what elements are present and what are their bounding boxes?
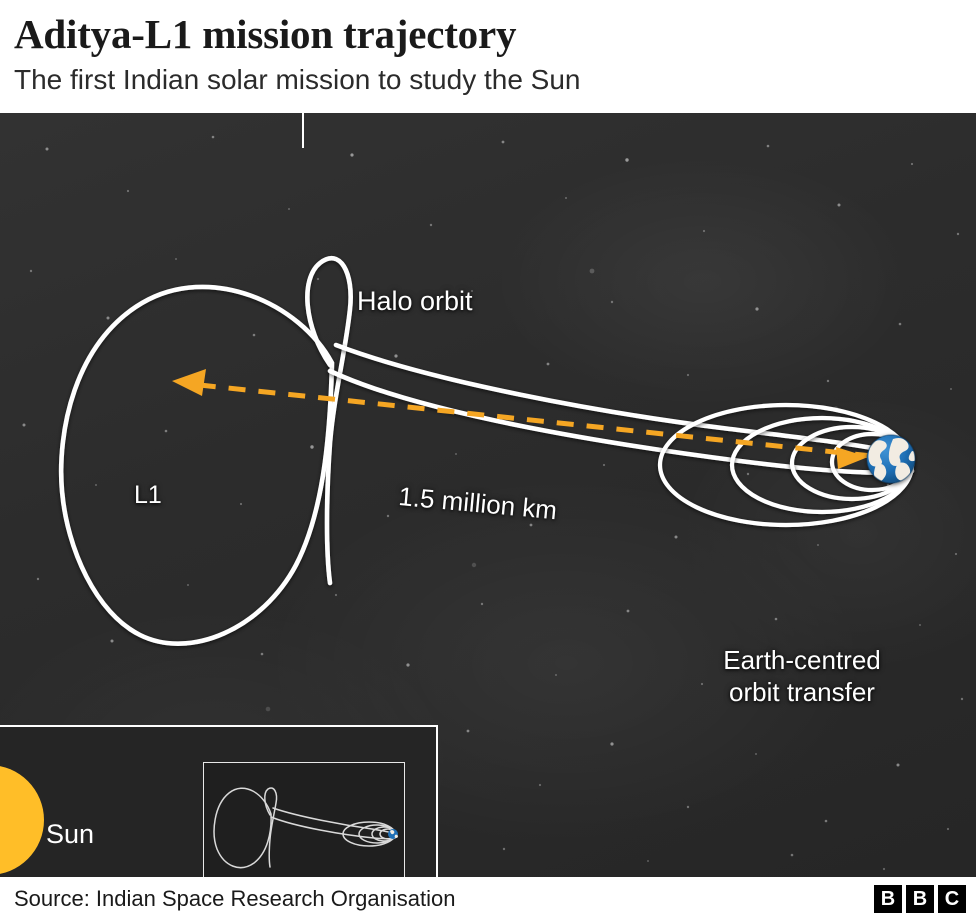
diagram-stage: Halo orbit L1 1.5 million km Earth-centr… (0, 113, 976, 877)
inset-connector-stem (302, 113, 304, 148)
header: Aditya-L1 mission trajectory The first I… (0, 0, 976, 113)
halo-orbit-path (61, 258, 350, 643)
page-subtitle: The first Indian solar mission to study … (14, 62, 976, 98)
arrowhead-left (172, 369, 206, 396)
bbc-logo-letter-2: B (906, 885, 934, 913)
mini-trajectory-vector (204, 763, 405, 877)
source-text: Source: Indian Space Research Organisati… (14, 886, 455, 912)
page-title: Aditya-L1 mission trajectory (14, 10, 976, 58)
footer: Source: Indian Space Research Organisati… (0, 877, 976, 920)
infographic-root: Aditya-L1 mission trajectory The first I… (0, 0, 976, 920)
sun-label: Sun (46, 819, 94, 850)
arrowhead-right (836, 447, 868, 469)
bbc-logo: B B C (874, 885, 966, 913)
inset-mini-diagram (203, 762, 405, 877)
bbc-logo-letter-1: B (874, 885, 902, 913)
bbc-logo-letter-3: C (938, 885, 966, 913)
distance-arrow (172, 369, 872, 469)
inset-panel: Sun Distance (0, 725, 438, 877)
sun-icon (0, 765, 44, 875)
